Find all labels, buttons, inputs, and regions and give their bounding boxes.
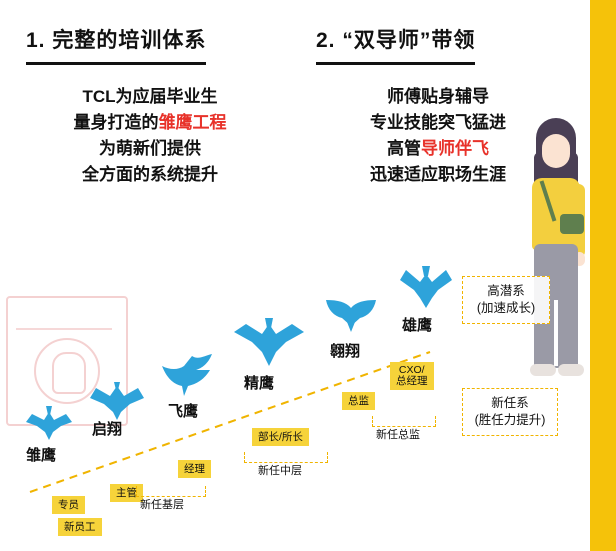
rank-tag-7: CXO/ 总经理 (390, 362, 434, 390)
bird-label-2: 启翔 (92, 418, 122, 439)
bird-label-3: 飞鹰 (168, 400, 198, 421)
heading-1-underline (26, 62, 206, 65)
side-box-1: 高潜系 (加速成长) (462, 276, 550, 324)
rank-tag-4: 经理 (178, 460, 211, 478)
b2-l2: 专业技能突飞猛进 (370, 113, 506, 132)
side-box-2: 新任系 (胜任力提升) (462, 388, 558, 436)
bird-label-4: 精鹰 (244, 372, 274, 393)
heading-2: 2. “双导师”带领 (316, 24, 475, 56)
bird-label-1: 雏鹰 (26, 444, 56, 465)
group-label-1: 新任基层 (140, 496, 184, 512)
b1-l4: 全方面的系统提升 (82, 165, 218, 184)
group-label-2: 新任中层 (258, 462, 302, 478)
b1-l3: 为萌新们提供 (99, 139, 201, 158)
b2-l4: 迅速适应职场生涯 (370, 165, 506, 184)
b1-l2a: 量身打造的 (74, 113, 159, 132)
rank-tag-6: 总监 (342, 392, 375, 410)
bird-icon-5 (320, 298, 382, 332)
side-box-1-line1: 高潜系 (471, 283, 541, 300)
bird-icon-6 (396, 266, 456, 308)
b2-l1: 师傅贴身辅导 (387, 87, 489, 106)
rank-tag-7-line2: 总经理 (396, 376, 428, 387)
heading-1: 1. 完整的培训体系 (26, 24, 206, 56)
rank-tag-1: 新员工 (58, 518, 102, 536)
group-label-3: 新任总监 (376, 426, 420, 442)
poster-canvas: 1. 完整的培训体系 2. “双导师”带领 TCL为应届毕业生 量身打造的雏鹰工… (0, 0, 616, 551)
b2-l3a: 高管 (387, 139, 421, 158)
bird-icon-3 (158, 352, 224, 396)
heading-2-text: 2. “双导师”带领 (316, 29, 475, 52)
rank-tag-2: 专员 (52, 496, 85, 514)
side-box-1-line2: (加速成长) (471, 300, 541, 317)
body-block-1: TCL为应届毕业生 量身打造的雏鹰工程 为萌新们提供 全方面的系统提升 (30, 84, 270, 188)
side-box-2-line1: 新任系 (471, 395, 549, 412)
bird-icon-2 (86, 382, 148, 420)
heading-1-text: 1. 完整的培训体系 (26, 29, 206, 52)
b1-l1: TCL为应届毕业生 (82, 87, 217, 106)
bird-label-6: 雄鹰 (402, 314, 432, 335)
heading-2-underline (316, 62, 475, 65)
bird-icon-1 (20, 406, 78, 440)
bird-label-5: 翱翔 (330, 340, 360, 361)
side-box-2-line2: (胜任力提升) (471, 412, 549, 429)
rank-tag-5: 部长/所长 (252, 428, 309, 446)
b1-l2b: 雏鹰工程 (159, 113, 227, 132)
bird-icon-4 (230, 318, 308, 366)
b2-l3b: 导师伴飞 (421, 139, 489, 158)
girl-illustration (520, 118, 598, 418)
